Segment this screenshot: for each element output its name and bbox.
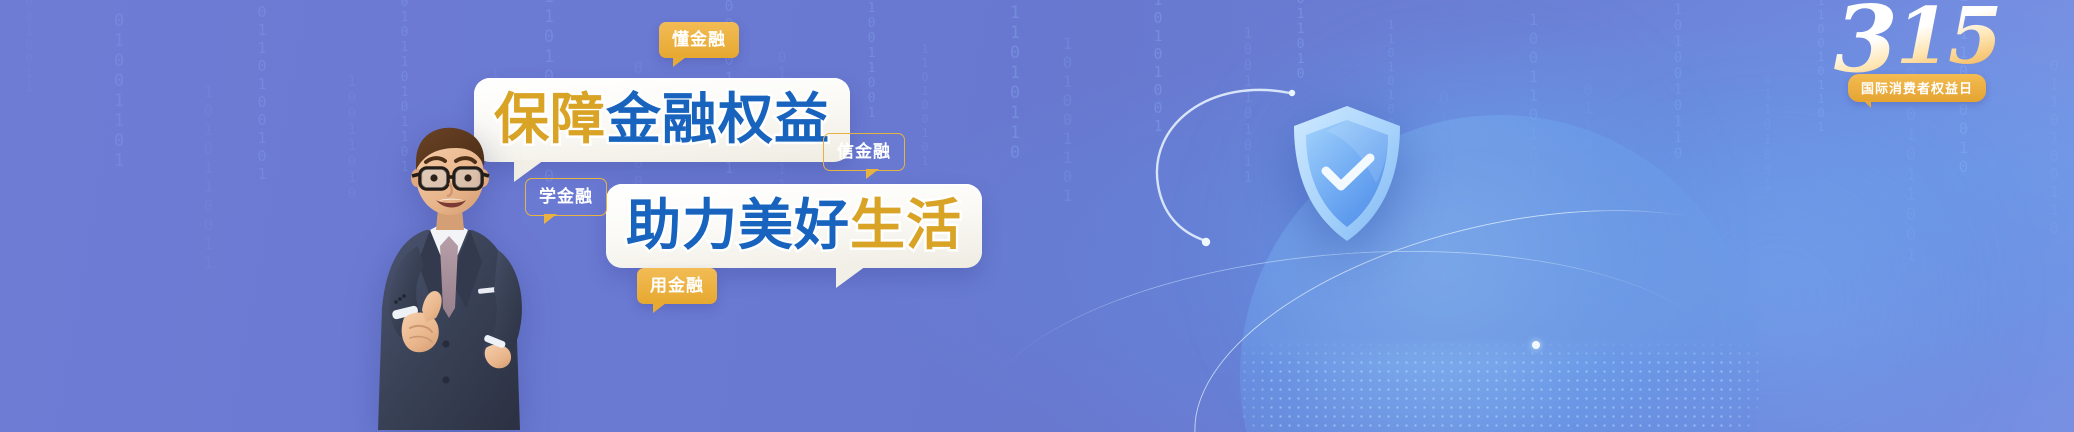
logo-315-digits: 315 [1834,0,2001,80]
headline-line-1-gold: 保障 [494,87,606,151]
binary-column: 01001101 [109,11,128,171]
binary-column: 010011010 [1291,0,1310,82]
logo-315: 315 国际消费者权益日 [1802,0,2032,102]
binary-column: 1001101011 [1238,26,1257,186]
binary-column: 1010110011 [199,82,218,272]
logo-digit-3: 3 [1834,0,1896,93]
headline-line-2: 助力美好生活 [626,194,962,256]
binary-column: 1010011001 [862,0,881,121]
binary-column: 1011010010 [1954,0,1973,176]
binary-column: 0110100110 [2044,57,2063,237]
dotted-globe-icon [1180,105,1880,432]
binary-column: 101001101 [1058,34,1077,205]
headline-line-1: 保障金融权益 [494,88,830,150]
logo-digits-15: 15 [1896,0,2001,82]
logo-315-badge: 国际消费者权益日 [1848,74,1986,102]
binary-column: 10011010 [342,74,361,202]
background-glow-left [1180,30,1740,432]
binary-column: 1100101101 [1811,0,1830,134]
tag-trust-finance: 信金融 [823,133,905,171]
globe-orbit-ring [1162,155,1853,432]
binary-column: 0101011001 [1901,65,1920,265]
headline-line-2-gold: 生活 [850,193,962,257]
binary-column: 1010010110 [1668,2,1687,162]
binary-column: 10110010011 [19,0,38,94]
shield-check-icon [1288,103,1406,245]
binary-column: 0110101001 [1148,0,1167,135]
binary-column: 0110100101 [252,3,271,183]
tag-learn-finance: 学金融 [525,178,607,216]
binary-column: 0011010110 [1005,0,1024,163]
binary-background-layer: 1011001001101001101101011001101101001011… [0,0,2074,432]
binary-column: 0110011010 [1578,81,1597,261]
globe-sweep-line [966,227,1735,430]
banner-315-financial-rights: 1011001001101001101101011001101101001011… [0,0,2074,432]
globe-orbit-node [1532,341,1540,349]
headline-bubble-primary: 保障金融权益 [474,78,850,162]
headline-line-1-blue: 金融权益 [606,87,830,151]
headline-line-2-blue: 助力美好 [626,193,850,257]
tag-use-finance: 用金融 [637,268,717,304]
binary-column: 100110101 [1524,10,1543,181]
tag-understand-finance: 懂金融 [659,22,739,58]
background-glow-right [1520,120,2040,432]
binary-column: 0101101001 [1434,89,1453,289]
binary-column: 010110101101 [395,0,414,175]
binary-column: 01101001 [1758,73,1777,193]
headline-bubble-secondary: 助力美好生活 [606,184,982,268]
binary-column: 110100101 [915,42,934,168]
